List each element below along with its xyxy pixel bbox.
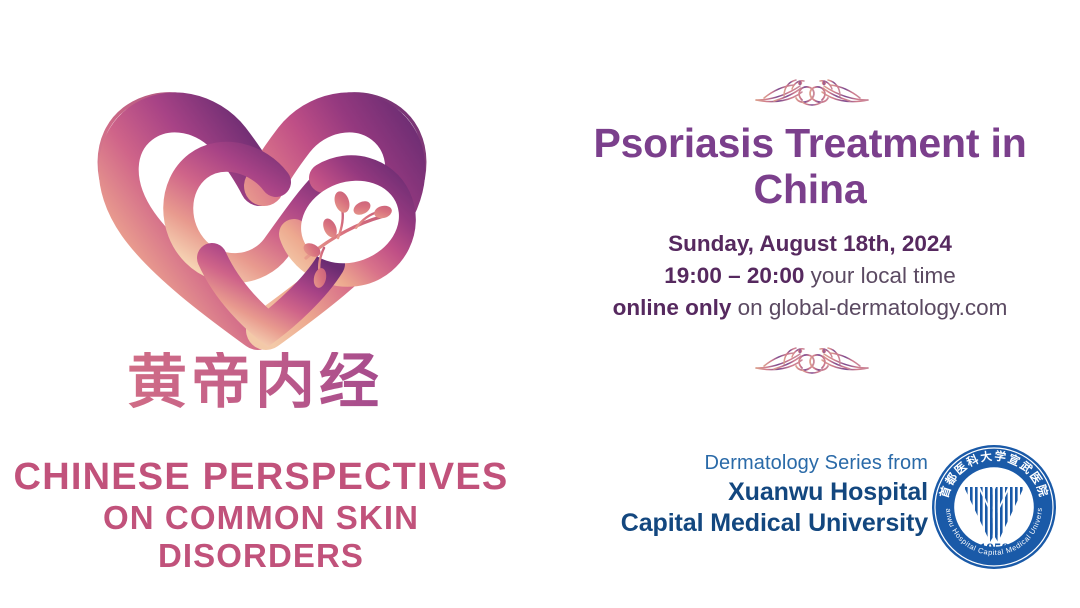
floral-divider-ornament-top: [588, 76, 1036, 110]
event-mode-row: online only on global-dermatology.com: [548, 292, 1072, 324]
series-kicker: Dermatology Series from: [621, 450, 928, 476]
brand-tagline-line2: ON COMMON SKIN DISORDERS: [0, 499, 522, 576]
xuanwu-hospital-seal: 1958 首都医科大学宣武医院 Xuanwu Hospital Capital …: [930, 443, 1058, 571]
poster-canvas: 黄帝内经 CHINESE PERSPECTIVES ON COMMON SKIN…: [0, 0, 1080, 608]
brand-chinese-title: 黄帝内经: [0, 352, 510, 412]
event-time: 19:00 – 20:00: [664, 263, 804, 288]
brand-tagline: CHINESE PERSPECTIVES ON COMMON SKIN DISO…: [0, 455, 522, 576]
event-column: Psoriasis Treatment in China Sunday, Aug…: [540, 0, 1080, 608]
brand-column: 黄帝内经 CHINESE PERSPECTIVES ON COMMON SKIN…: [0, 0, 540, 608]
event-mode-suffix: on global-dermatology.com: [738, 295, 1008, 320]
event-mode: online only: [613, 295, 732, 320]
event-time-suffix: your local time: [811, 263, 956, 288]
heart-infinity-branch-logo: [62, 62, 462, 362]
event-details: Sunday, August 18th, 2024 19:00 – 20:00 …: [548, 228, 1072, 324]
event-time-row: 19:00 – 20:00 your local time: [548, 260, 1072, 292]
series-org-line1: Xuanwu Hospital: [621, 477, 928, 508]
event-title: Psoriasis Treatment in China: [548, 120, 1072, 213]
floral-divider-ornament-bottom: [588, 344, 1036, 378]
brand-tagline-line1: CHINESE PERSPECTIVES: [0, 455, 522, 499]
series-organization: Xuanwu Hospital Capital Medical Universi…: [621, 477, 928, 538]
event-date: Sunday, August 18th, 2024: [668, 231, 952, 256]
series-attribution: Dermatology Series from Xuanwu Hospital …: [621, 450, 928, 538]
event-title-line2: China: [754, 166, 867, 212]
event-title-line1: Psoriasis Treatment in: [593, 120, 1026, 166]
event-date-row: Sunday, August 18th, 2024: [548, 228, 1072, 260]
series-org-line2: Capital Medical University: [621, 508, 928, 539]
